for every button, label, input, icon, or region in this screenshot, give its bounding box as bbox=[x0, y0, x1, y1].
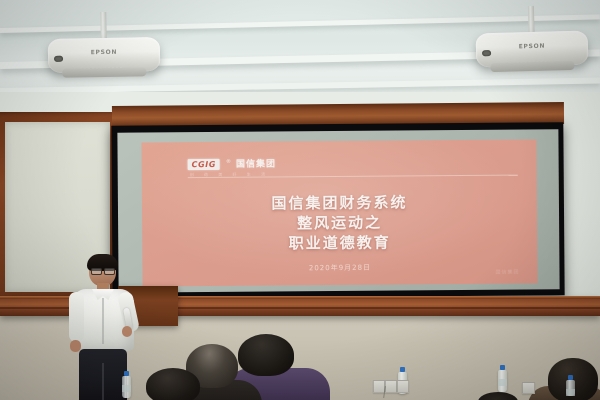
projection-screen: CGIG ® 国信集团 创 造 美 好 生 活 国信集团财务系统 整风运动之 职… bbox=[111, 122, 564, 299]
wall-outlet-plate[interactable] bbox=[522, 382, 535, 394]
trouser-seam bbox=[102, 363, 104, 400]
logo-mark-text: CGIG bbox=[192, 160, 216, 169]
logo-company-name: 国信集团 bbox=[236, 159, 276, 169]
registered-trademark-icon: ® bbox=[226, 159, 231, 165]
slide-title: 国信集团财务系统 整风运动之 职业道德教育 bbox=[142, 191, 537, 254]
ceiling-projector-right: EPSON bbox=[476, 31, 589, 68]
wall-switch-plate[interactable] bbox=[397, 380, 409, 393]
water-bottle bbox=[498, 370, 507, 392]
presenter-left-arm bbox=[69, 292, 84, 342]
ceiling-projector-left: EPSON bbox=[48, 37, 161, 73]
audience-member-head bbox=[238, 334, 294, 376]
slide-title-line-3: 职业道德教育 bbox=[142, 231, 537, 254]
presenter-right-hand bbox=[122, 326, 132, 337]
glasses-icon bbox=[91, 268, 115, 273]
conference-room-photo: CGIG ® 国信集团 创 造 美 好 生 活 国信集团财务系统 整风运动之 职… bbox=[0, 0, 600, 400]
company-logo: CGIG ® 国信集团 bbox=[188, 158, 276, 170]
presentation-slide: CGIG ® 国信集团 创 造 美 好 生 活 国信集团财务系统 整风运动之 职… bbox=[141, 139, 537, 286]
projector-mount-pole bbox=[100, 12, 106, 40]
projector-mount-pole bbox=[528, 6, 535, 34]
water-bottle bbox=[566, 380, 575, 396]
presenter-shirt-placket bbox=[102, 298, 104, 344]
projector-brand-label: EPSON bbox=[476, 42, 588, 52]
water-bottle bbox=[122, 376, 131, 398]
presenter-trousers bbox=[79, 349, 127, 400]
screen-surface: CGIG ® 国信集团 创 造 美 好 生 活 国信集团财务系统 整风运动之 职… bbox=[117, 129, 559, 292]
logo-mark-box: CGIG bbox=[188, 159, 220, 170]
slide-watermark: 国信集团 bbox=[495, 269, 519, 276]
ceiling-molding-band bbox=[0, 14, 600, 33]
audience-member-head bbox=[146, 368, 200, 400]
wall-switch-plate[interactable] bbox=[385, 380, 397, 393]
projector-base bbox=[62, 67, 146, 77]
projector-brand-label: EPSON bbox=[48, 48, 160, 57]
